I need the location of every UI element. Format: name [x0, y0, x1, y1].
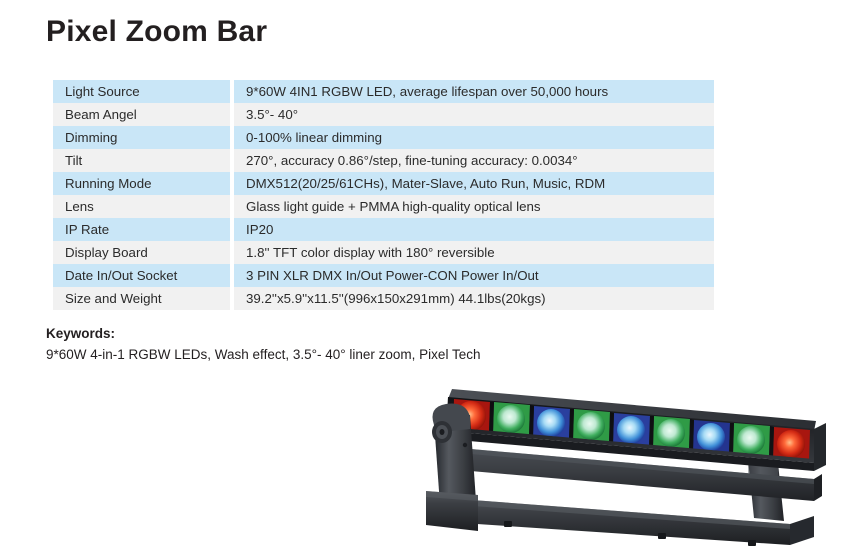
spec-label: Date In/Out Socket [53, 264, 232, 287]
spec-label: Light Source [53, 80, 232, 103]
spec-value: 3.5°- 40° [232, 103, 714, 126]
product-spec-page: Pixel Zoom Bar Light Source 9*60W 4IN1 R… [0, 0, 851, 549]
led-cell-8 [733, 423, 770, 457]
spec-value: 0-100% linear dimming [232, 126, 714, 149]
spec-label: Beam Angel [53, 103, 232, 126]
spec-label: Tilt [53, 149, 232, 172]
base-block-left [426, 491, 478, 531]
spec-value: 9*60W 4IN1 RGBW LED, average lifespan ov… [232, 80, 714, 103]
spec-label: IP Rate [53, 218, 232, 241]
spec-value: 1.8'' TFT color display with 180° revers… [232, 241, 714, 264]
yoke-arm-left [432, 404, 476, 505]
spec-value: Glass light guide + PMMA high-quality op… [232, 195, 714, 218]
table-row: Tilt 270°, accuracy 0.86°/step, fine-tun… [53, 149, 714, 172]
spec-label: Running Mode [53, 172, 232, 195]
specification-table: Light Source 9*60W 4IN1 RGBW LED, averag… [53, 80, 714, 310]
table-row: Size and Weight 39.2''x5.9''x11.5''(996x… [53, 287, 714, 310]
keywords-text: 9*60W 4-in-1 RGBW LEDs, Wash effect, 3.5… [46, 345, 686, 364]
keywords-block: Keywords: 9*60W 4-in-1 RGBW LEDs, Wash e… [46, 325, 686, 364]
spec-value: DMX512(20/25/61CHs), Mater-Slave, Auto R… [232, 172, 714, 195]
table-row: Running Mode DMX512(20/25/61CHs), Mater-… [53, 172, 714, 195]
spec-label: Dimming [53, 126, 232, 149]
table-row: Light Source 9*60W 4IN1 RGBW LED, averag… [53, 80, 714, 103]
spec-value: 3 PIN XLR DMX In/Out Power-CON Power In/… [232, 264, 714, 287]
spec-value: IP20 [232, 218, 714, 241]
product-photo [418, 385, 842, 549]
table-row: Display Board 1.8'' TFT color display wi… [53, 241, 714, 264]
page-title: Pixel Zoom Bar [46, 13, 267, 51]
led-cell-6 [653, 416, 690, 450]
led-cell-4 [573, 409, 610, 443]
spec-label: Lens [53, 195, 232, 218]
spec-value: 39.2''x5.9''x11.5''(996x150x291mm) 44.1l… [232, 287, 714, 310]
led-cell-9 [773, 427, 810, 461]
table-row: Lens Glass light guide + PMMA high-quali… [53, 195, 714, 218]
pixel-zoom-bar-illustration [418, 385, 842, 549]
table-row: IP Rate IP20 [53, 218, 714, 241]
table-row: Date In/Out Socket 3 PIN XLR DMX In/Out … [53, 264, 714, 287]
led-cell-3 [533, 406, 570, 440]
spec-value: 270°, accuracy 0.86°/step, fine-tuning a… [232, 149, 714, 172]
keywords-heading: Keywords: [46, 325, 686, 343]
led-cell-5 [613, 413, 650, 447]
led-cell-2 [493, 402, 530, 436]
table-row: Dimming 0-100% linear dimming [53, 126, 714, 149]
specification-table-body: Light Source 9*60W 4IN1 RGBW LED, averag… [53, 80, 714, 310]
spec-label: Display Board [53, 241, 232, 264]
spec-label: Size and Weight [53, 287, 232, 310]
led-cell-7 [693, 420, 730, 454]
table-row: Beam Angel 3.5°- 40° [53, 103, 714, 126]
